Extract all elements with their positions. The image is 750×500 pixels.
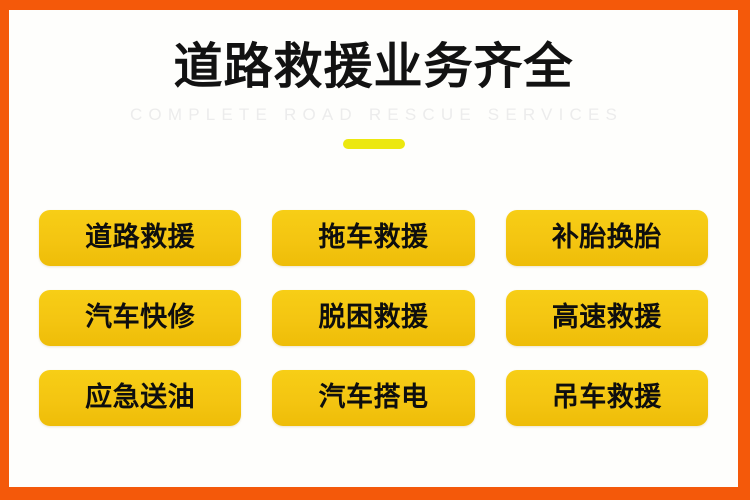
divider [9, 138, 738, 149]
service-grid: 道路救援 拖车救援 补胎换胎 汽车快修 脱困救援 高速救援 应急送油 汽车搭电 [39, 210, 708, 426]
service-button-tire-repair-replace[interactable]: 补胎换胎 [506, 210, 708, 266]
service-button-label: 拖车救援 [318, 223, 428, 253]
service-button-highway-rescue[interactable]: 高速救援 [506, 290, 708, 346]
service-button-crane-rescue[interactable]: 吊车救援 [506, 370, 708, 426]
poster-frame: 道路救援业务齐全 COMPLETE ROAD RESCUE SERVICES 道… [0, 0, 750, 500]
service-button-road-rescue[interactable]: 道路救援 [39, 210, 241, 266]
service-button-quick-car-repair[interactable]: 汽车快修 [39, 290, 241, 346]
service-button-label: 汽车搭电 [318, 383, 428, 413]
page-title: 道路救援业务齐全 [9, 38, 738, 96]
service-button-emergency-fuel-delivery[interactable]: 应急送油 [39, 370, 241, 426]
service-button-label: 汽车快修 [85, 303, 195, 333]
service-button-label: 高速救援 [552, 303, 662, 333]
header: 道路救援业务齐全 COMPLETE ROAD RESCUE SERVICES [9, 38, 738, 149]
divider-bar [343, 139, 405, 149]
service-button-label: 应急送油 [85, 383, 195, 413]
service-button-extrication-rescue[interactable]: 脱困救援 [272, 290, 474, 346]
service-button-label: 脱困救援 [318, 303, 428, 333]
poster-canvas: 道路救援业务齐全 COMPLETE ROAD RESCUE SERVICES 道… [9, 10, 738, 487]
page-subtitle: COMPLETE ROAD RESCUE SERVICES [9, 105, 738, 125]
service-button-label: 道路救援 [85, 223, 195, 253]
service-button-label: 吊车救援 [552, 383, 662, 413]
service-button-tow-rescue[interactable]: 拖车救援 [272, 210, 474, 266]
service-button-label: 补胎换胎 [552, 223, 662, 253]
service-button-jump-start[interactable]: 汽车搭电 [272, 370, 474, 426]
